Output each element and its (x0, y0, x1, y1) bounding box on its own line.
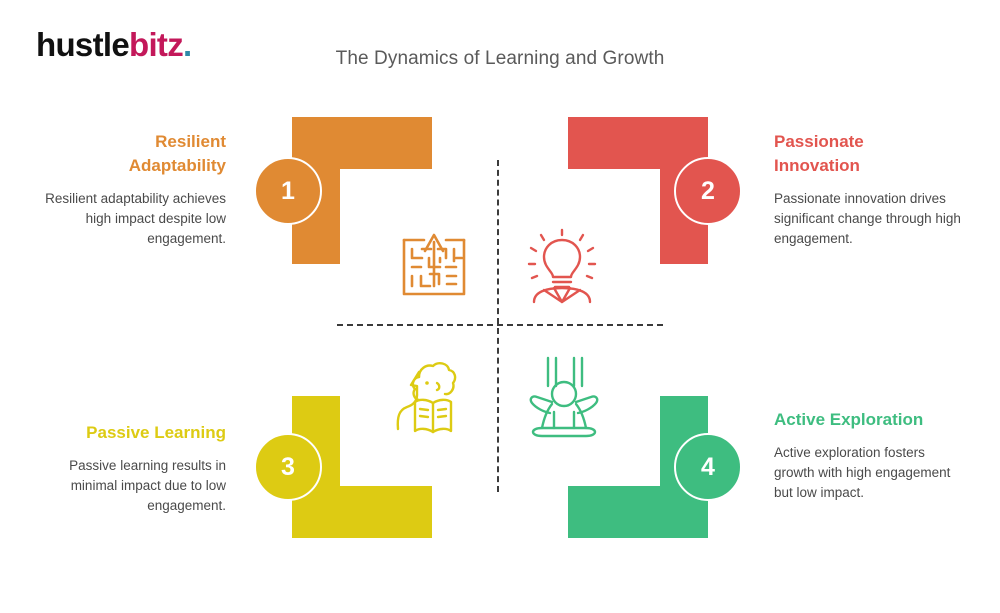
quadrant-3-body: Passive learning results in minimal impa… (28, 456, 226, 516)
person-arms-raised-icon (524, 352, 604, 443)
quadrant-1-number-badge[interactable]: 1 (254, 157, 322, 225)
quadrant-2-heading-line1: Passionate (774, 132, 864, 151)
quadrant-1-heading-line2: Adaptability (34, 154, 226, 178)
quadrant-2-heading-line2: Innovation (774, 154, 974, 178)
quadrant-3-number-badge[interactable]: 3 (254, 433, 322, 501)
quadrant-1-heading: Resilient Adaptability (34, 130, 226, 178)
quadrant-3-heading-line1: Passive Learning (86, 423, 226, 442)
quadrant-4-heading: Active Exploration (774, 408, 964, 432)
quadrant-1-text: Resilient Adaptability Resilient adaptab… (34, 130, 226, 249)
quadrant-3-text: Passive Learning Passive learning result… (28, 421, 226, 516)
page-title: The Dynamics of Learning and Growth (0, 48, 1000, 70)
maze-arrow-icon (398, 228, 470, 305)
quadrant-2-heading: Passionate Innovation (774, 130, 974, 178)
infographic-canvas: hustlebitz. The Dynamics of Learning and… (0, 0, 1000, 613)
quadrant-4-text: Active Exploration Active exploration fo… (774, 408, 964, 503)
quadrant-4-number-badge[interactable]: 4 (674, 433, 742, 501)
quadrant-1-heading-line1: Resilient (155, 132, 226, 151)
quadrant-4-body: Active exploration fosters growth with h… (774, 443, 964, 503)
quadrant-2-number-badge[interactable]: 2 (674, 157, 742, 225)
horizontal-axis-divider (337, 324, 663, 326)
quadrant-2-body: Passionate innovation drives significant… (774, 189, 974, 249)
quadrant-2-text: Passionate Innovation Passionate innovat… (774, 130, 974, 249)
person-reading-book-icon (393, 357, 475, 442)
lightbulb-idea-icon (524, 226, 600, 309)
quadrant-3-heading: Passive Learning (28, 421, 226, 445)
quadrant-1-body: Resilient adaptability achieves high imp… (34, 189, 226, 249)
vertical-axis-divider (497, 160, 499, 492)
quadrant-4-heading-line1: Active Exploration (774, 410, 923, 429)
